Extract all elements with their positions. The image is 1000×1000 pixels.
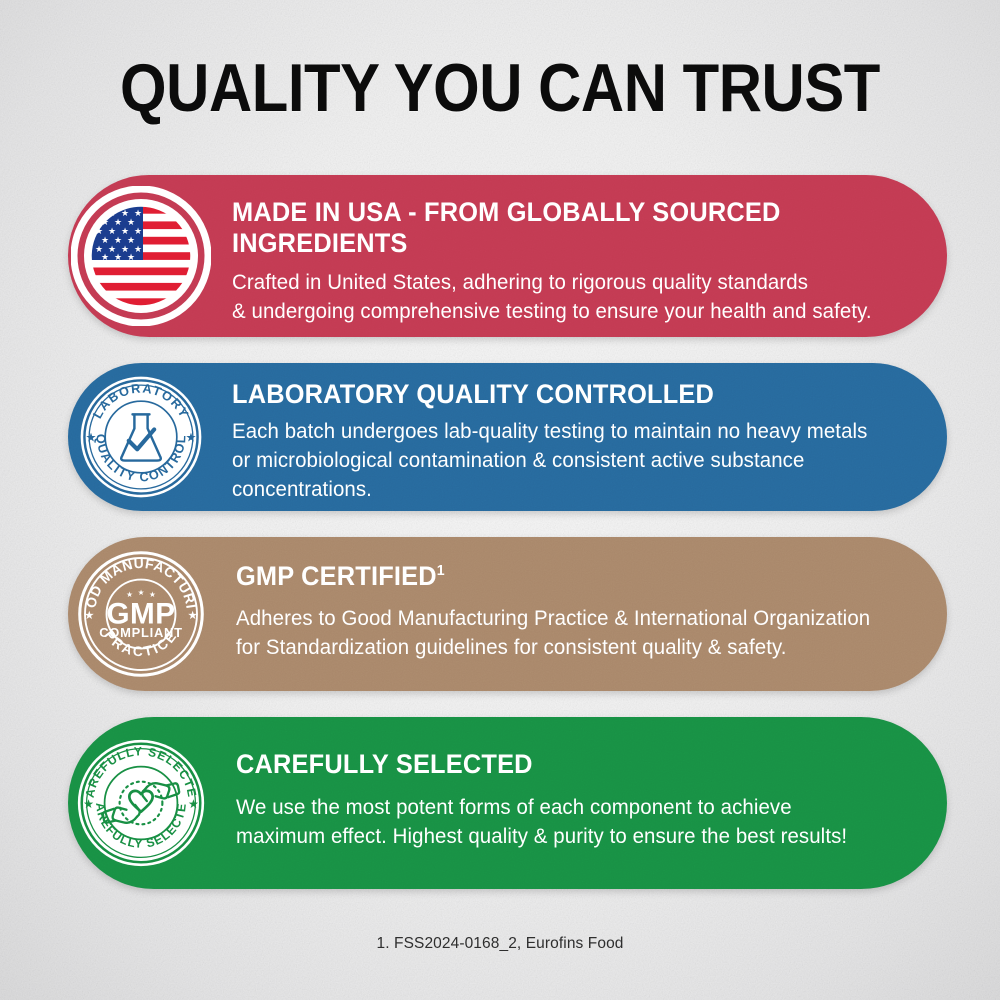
card-text-carefully-selected: CAREFULLY SELECTED We use the most poten… [236,749,879,851]
footnote-reference: 1. FSS2024-0168_2, Eurofins Food [0,935,1000,953]
badge-gmp-compliant: GOOD MANUFACTURING PRACTICE ★ ★ ★★★ GMP … [66,537,216,691]
svg-text:★: ★ [101,253,109,263]
feature-card-carefully-selected[interactable]: CAREFULLY SELECTED CAREFULLY SELECTED ★ … [68,717,947,889]
card-heading-footnote-marker: 1 [437,562,445,579]
card-body: We use the most potent forms of each com… [236,793,847,851]
svg-text:★: ★ [134,209,142,219]
usa-flag-badge-icon: ★★★★ ★★★ ★★★★ ★★★ ★★★★ ★★★ [71,186,211,326]
card-heading-text: GMP CERTIFIED [236,561,437,591]
feature-card-gmp-certified[interactable]: GOOD MANUFACTURING PRACTICE ★ ★ ★★★ GMP … [68,537,947,691]
svg-text:★: ★ [134,245,142,255]
svg-text:★: ★ [84,608,94,622]
svg-text:★: ★ [114,253,122,263]
svg-text:★: ★ [188,797,199,811]
feature-card-made-in-usa[interactable]: ★★★★ ★★★ ★★★★ ★★★ ★★★★ ★★★ MADE IN USA -… [68,175,947,337]
page-title: QUALITY YOU CAN TRUST [60,53,940,123]
card-heading: CAREFULLY SELECTED [236,749,841,780]
card-text-gmp: GMP CERTIFIED1 Adheres to Good Manufactu… [236,561,904,662]
svg-text:COMPLIANT: COMPLIANT [99,625,183,640]
gmp-compliant-seal-icon: GOOD MANUFACTURING PRACTICE ★ ★ ★★★ GMP … [74,547,208,681]
badge-carefully-selected: CAREFULLY SELECTED CAREFULLY SELECTED ★ … [66,717,216,889]
laboratory-quality-control-seal-icon: LABORATORY QUALITY CONTROL ★ ★ [75,371,207,503]
svg-text:★: ★ [138,588,145,597]
badge-laboratory-quality-control: LABORATORY QUALITY CONTROL ★ ★ [66,363,216,511]
svg-text:★: ★ [185,431,196,445]
card-text-made-in-usa: MADE IN USA - FROM GLOBALLY SOURCED INGR… [232,197,905,326]
carefully-selected-hands-heart-seal-icon: CAREFULLY SELECTED CAREFULLY SELECTED ★ … [73,735,209,871]
card-heading: GMP CERTIFIED1 [236,561,864,592]
svg-text:★: ★ [83,797,94,811]
card-body: Each batch undergoes lab-quality testing… [232,417,867,504]
card-heading: MADE IN USA - FROM GLOBALLY SOURCED INGR… [232,197,865,259]
card-text-laboratory: LABORATORY QUALITY CONTROLLED Each batch… [232,379,901,504]
infographic-page: QUALITY YOU CAN TRUST [0,0,1000,1000]
card-body: Adheres to Good Manufacturing Practice &… [236,604,870,662]
svg-text:★: ★ [86,431,97,445]
card-heading: LABORATORY QUALITY CONTROLLED [232,379,861,410]
svg-text:★: ★ [188,608,198,622]
badge-made-in-usa: ★★★★ ★★★ ★★★★ ★★★ ★★★★ ★★★ [66,175,216,337]
svg-text:★: ★ [134,227,142,237]
card-body: Crafted in United States, adhering to ri… [232,268,872,326]
svg-text:★: ★ [127,253,135,263]
feature-card-laboratory-quality-controlled[interactable]: LABORATORY QUALITY CONTROL ★ ★ LABORATOR… [68,363,947,511]
